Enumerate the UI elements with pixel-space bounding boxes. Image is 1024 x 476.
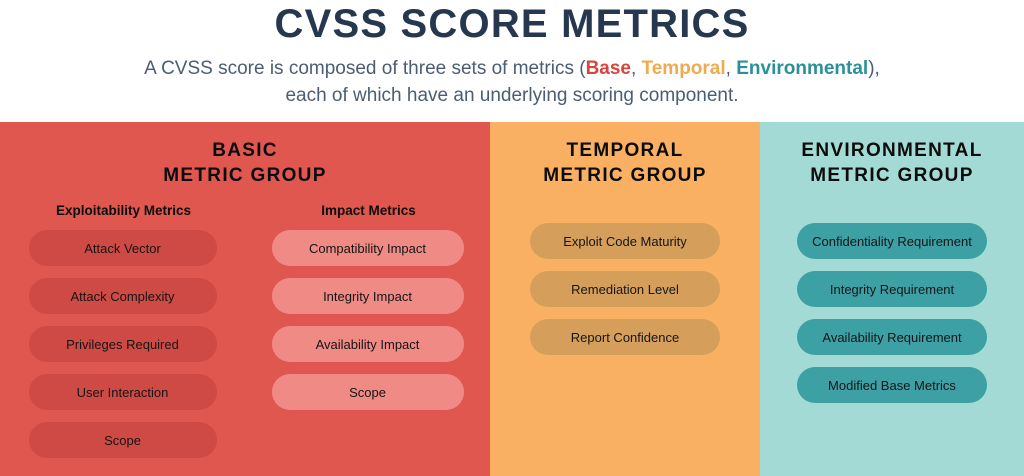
- pill-confidentiality-requirement[interactable]: Confidentiality Requirement: [797, 223, 987, 259]
- pill-scope-impact[interactable]: Scope: [272, 374, 464, 410]
- pill-integrity-impact[interactable]: Integrity Impact: [272, 278, 464, 314]
- pill-availability-requirement[interactable]: Availability Requirement: [797, 319, 987, 355]
- pill-user-interaction[interactable]: User Interaction: [29, 374, 217, 410]
- metric-group-panels: BASIC METRIC GROUP Exploitability Metric…: [0, 122, 1024, 476]
- column-exploitability-metrics: Exploitability Metrics Attack Vector Att…: [0, 203, 245, 470]
- pill-attack-complexity[interactable]: Attack Complexity: [29, 278, 217, 314]
- panel-temporal-metric-group: TEMPORAL METRIC GROUP Exploit Code Matur…: [490, 122, 760, 476]
- subtitle-text-prefix: A CVSS score is composed of three sets o…: [144, 58, 585, 79]
- pill-privileges-required[interactable]: Privileges Required: [29, 326, 217, 362]
- pill-report-confidence[interactable]: Report Confidence: [530, 319, 720, 355]
- subtitle-separator-1: ,: [631, 58, 642, 79]
- panel-environmental-title-line-1: ENVIRONMENTAL: [801, 140, 982, 161]
- pill-modified-base-metrics[interactable]: Modified Base Metrics: [797, 367, 987, 403]
- pill-scope-exploitability[interactable]: Scope: [29, 422, 217, 458]
- subtitle: A CVSS score is composed of three sets o…: [0, 46, 1024, 109]
- basic-columns: Exploitability Metrics Attack Vector Att…: [0, 203, 490, 470]
- subtitle-text-suffix: ),: [868, 58, 880, 79]
- pill-compatibility-impact[interactable]: Compatibility Impact: [272, 230, 464, 266]
- list-environmental-metrics: Confidentiality Requirement Integrity Re…: [760, 223, 1024, 403]
- panel-basic-metric-group: BASIC METRIC GROUP Exploitability Metric…: [0, 122, 490, 476]
- panel-temporal-title: TEMPORAL METRIC GROUP: [490, 122, 760, 188]
- list-exploitability-metrics: Attack Vector Attack Complexity Privileg…: [0, 230, 245, 458]
- panel-environmental-title: ENVIRONMENTAL METRIC GROUP: [760, 122, 1024, 188]
- panel-temporal-title-line-1: TEMPORAL: [566, 140, 683, 161]
- subtitle-keyword-environmental: Environmental: [736, 58, 868, 79]
- column-impact-metrics: Impact Metrics Compatibility Impact Inte…: [245, 203, 490, 470]
- pill-integrity-requirement[interactable]: Integrity Requirement: [797, 271, 987, 307]
- panel-temporal-title-line-2: METRIC GROUP: [543, 165, 706, 186]
- page-title: CVSS SCORE METRICS: [0, 0, 1024, 46]
- panel-basic-title: BASIC METRIC GROUP: [0, 122, 490, 188]
- pill-attack-vector[interactable]: Attack Vector: [29, 230, 217, 266]
- panel-environmental-metric-group: ENVIRONMENTAL METRIC GROUP Confidentiali…: [760, 122, 1024, 476]
- subtitle-line-2: each of which have an underlying scoring…: [285, 85, 738, 106]
- heading-impact-metrics: Impact Metrics: [245, 203, 490, 219]
- panel-basic-title-line-1: BASIC: [212, 140, 278, 161]
- pill-availability-impact[interactable]: Availability Impact: [272, 326, 464, 362]
- panel-environmental-title-line-2: METRIC GROUP: [810, 165, 973, 186]
- panel-basic-title-line-2: METRIC GROUP: [163, 165, 326, 186]
- list-impact-metrics: Compatibility Impact Integrity Impact Av…: [245, 230, 490, 410]
- subtitle-separator-2: ,: [726, 58, 737, 79]
- heading-exploitability-metrics: Exploitability Metrics: [0, 203, 245, 219]
- header: CVSS SCORE METRICS A CVSS score is compo…: [0, 0, 1024, 122]
- pill-exploit-code-maturity[interactable]: Exploit Code Maturity: [530, 223, 720, 259]
- subtitle-keyword-temporal: Temporal: [642, 58, 726, 79]
- pill-remediation-level[interactable]: Remediation Level: [530, 271, 720, 307]
- infographic-cvss-score-metrics: CVSS SCORE METRICS A CVSS score is compo…: [0, 0, 1024, 476]
- list-temporal-metrics: Exploit Code Maturity Remediation Level …: [490, 223, 760, 355]
- subtitle-keyword-base: Base: [586, 58, 631, 79]
